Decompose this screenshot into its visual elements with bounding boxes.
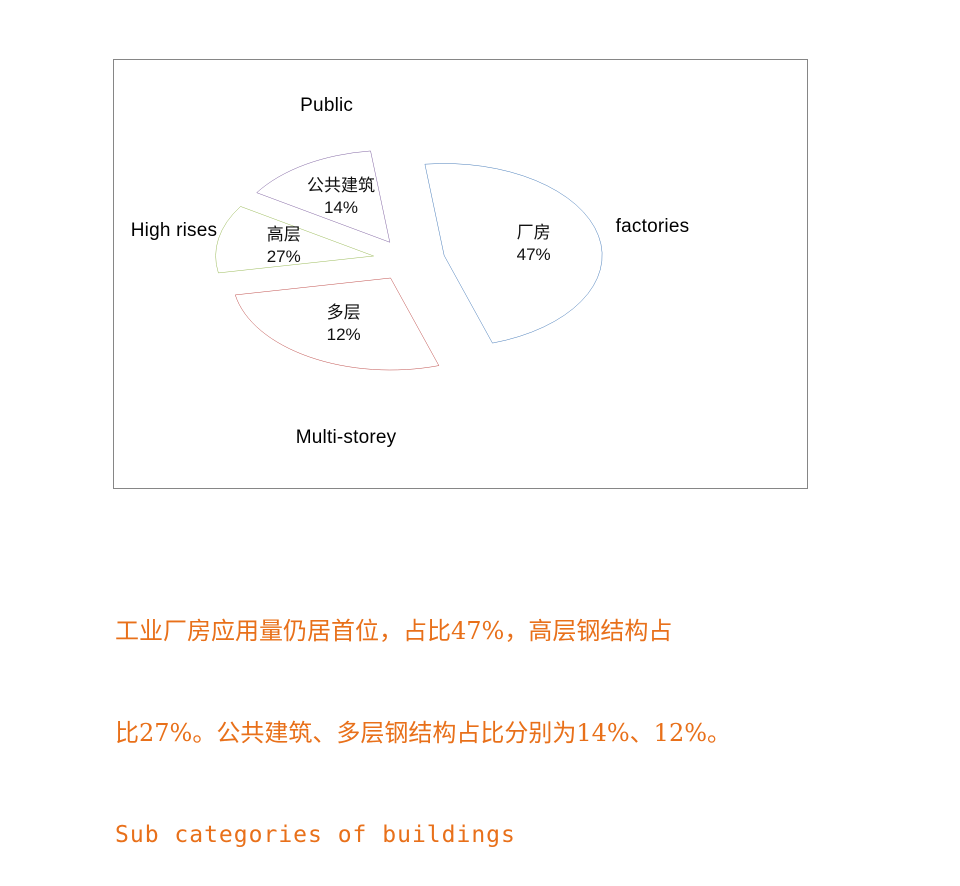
data-label-factories-name: 厂房 (517, 223, 551, 243)
caption-text-block: 工业厂房应用量仍居首位，占比47%，高层钢结构占 比27%。公共建筑、多层钢结构… (115, 546, 885, 886)
data-label-factories-percent: 47% (517, 244, 551, 265)
category-label-public: Public (300, 95, 353, 117)
caption-line-3: Sub categories of buildings (115, 818, 885, 852)
data-label-public-name: 公共建筑 (307, 176, 375, 196)
category-label-high-rises: High rises (131, 220, 217, 242)
data-label-public-percent: 14% (307, 197, 375, 218)
data-label-multi-storey-percent: 12% (327, 324, 361, 345)
data-label-multi-storey-name: 多层 (327, 303, 361, 323)
pie-chart-graphic (114, 60, 809, 490)
pie-slice-factories[interactable] (425, 163, 602, 343)
data-label-high-rises: 高层 27% (267, 225, 301, 268)
data-label-multi-storey: 多层 12% (327, 303, 361, 346)
pie-chart-frame: Public factories High rises Multi-storey… (113, 59, 808, 489)
data-label-factories: 厂房 47% (517, 223, 551, 266)
category-label-factories: factories (616, 216, 690, 238)
category-label-multi-storey: Multi-storey (296, 427, 397, 449)
data-label-high-rises-percent: 27% (267, 246, 301, 267)
pie-chart-plot-area: Public factories High rises Multi-storey… (114, 60, 809, 490)
caption-line-1: 工业厂房应用量仍居首位，占比47%，高层钢结构占 (115, 614, 885, 648)
caption-line-2: 比27%。公共建筑、多层钢结构占比分别为14%、12%。 (115, 716, 885, 750)
data-label-public: 公共建筑 14% (307, 176, 375, 219)
data-label-high-rises-name: 高层 (267, 225, 301, 245)
